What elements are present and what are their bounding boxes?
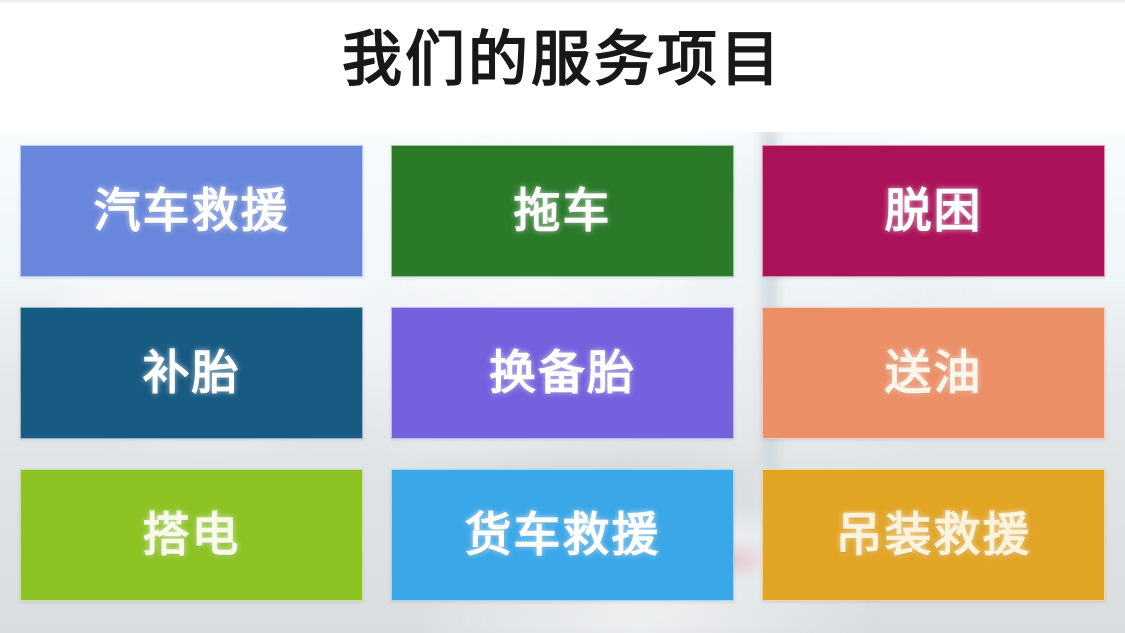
- service-tile-tire-repair[interactable]: 补胎: [20, 307, 363, 439]
- service-tile-label: 吊装救援: [836, 512, 1032, 559]
- service-tile-label: 换备胎: [489, 350, 636, 397]
- service-tile-tow-truck[interactable]: 拖车: [391, 145, 734, 277]
- service-tile-jump-start[interactable]: 搭电: [20, 469, 363, 601]
- service-tile-label: 汽车救援: [94, 188, 290, 235]
- top-edge-line: [0, 0, 1125, 4]
- service-poster: 我们的服务项目 汽车救援 拖车 脱困 补胎 换备胎 送油 搭电 货车救援 吊装救…: [0, 0, 1125, 633]
- service-tile-car-rescue[interactable]: 汽车救援: [20, 145, 363, 277]
- page-title: 我们的服务项目: [0, 18, 1125, 102]
- service-tile-label: 拖车: [514, 188, 612, 235]
- service-tile-label: 补胎: [143, 350, 241, 397]
- service-tile-label: 货车救援: [465, 512, 661, 559]
- service-tile-truck-rescue[interactable]: 货车救援: [391, 469, 734, 601]
- service-tile-hoisting-rescue[interactable]: 吊装救援: [762, 469, 1105, 601]
- service-tile-fuel-delivery[interactable]: 送油: [762, 307, 1105, 439]
- service-tile-label: 送油: [885, 350, 983, 397]
- service-grid: 汽车救援 拖车 脱困 补胎 换备胎 送油 搭电 货车救援 吊装救援: [20, 145, 1105, 601]
- service-tile-extrication[interactable]: 脱困: [762, 145, 1105, 277]
- service-tile-label: 搭电: [143, 512, 241, 559]
- service-tile-label: 脱困: [885, 188, 983, 235]
- service-tile-spare-tire-change[interactable]: 换备胎: [391, 307, 734, 439]
